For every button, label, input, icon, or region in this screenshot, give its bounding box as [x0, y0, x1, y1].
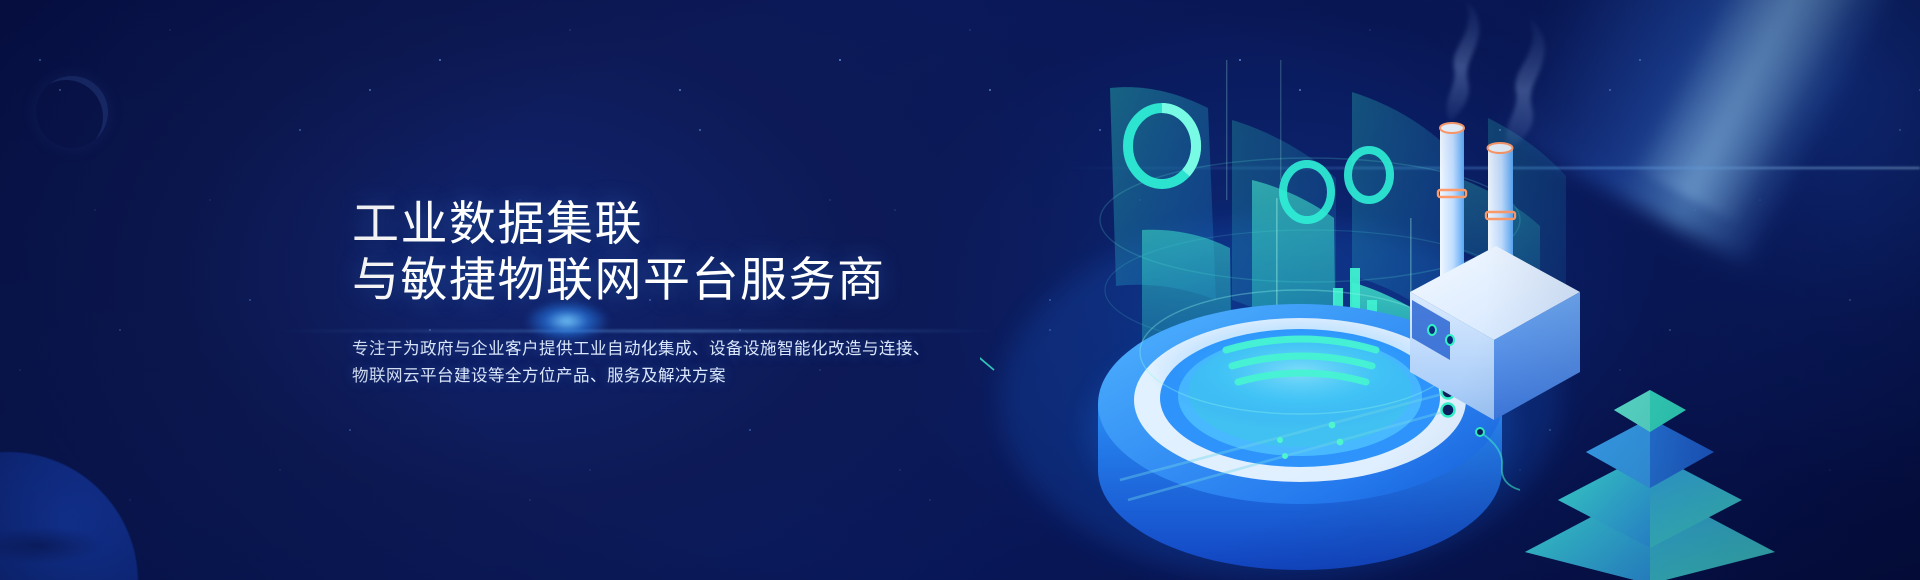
isometric-industrial-iot-illustration — [980, 0, 1920, 580]
smoke-plume — [1506, 18, 1544, 150]
smokestack-rim — [1488, 143, 1513, 153]
link-pulse — [1329, 422, 1336, 429]
smokestack — [1440, 128, 1464, 278]
data-stream-line — [1280, 60, 1281, 180]
data-connection-line — [980, 276, 994, 370]
smoke-plume — [1447, 0, 1479, 122]
hero-subtitle: 专注于为政府与企业客户提供工业自动化集成、设备设施智能化改造与连接、 物联网云平… — [352, 336, 912, 390]
smokestack-rim — [1440, 123, 1464, 133]
hero-subtitle-line1: 专注于为政府与企业客户提供工业自动化集成、设备设施智能化改造与连接、 — [352, 336, 912, 363]
factory-port — [1446, 335, 1454, 345]
hero-subtitle-line2: 物联网云平台建设等全方位产品、服务及解决方案 — [352, 363, 912, 390]
hero-copy: 工业数据集联 与敏捷物联网平台服务商 专注于为政府与企业客户提供工业自动化集成、… — [352, 196, 992, 390]
link-node — [1442, 404, 1455, 417]
data-stream-line — [1276, 198, 1278, 310]
link-pulse — [1282, 453, 1288, 459]
crescent-moon-icon — [36, 76, 108, 148]
page-title-line1: 工业数据集联 — [352, 196, 992, 252]
link-node — [1476, 428, 1484, 436]
pyramid-apex-left — [1614, 390, 1650, 432]
link-pulse — [1337, 439, 1344, 446]
factory-port — [1428, 325, 1436, 335]
link-pulse — [1277, 437, 1283, 443]
page-title-line2: 与敏捷物联网平台服务商 — [352, 252, 992, 308]
data-stream-line — [1226, 60, 1227, 200]
planet-icon — [0, 452, 138, 580]
hero-banner: 工业数据集联 与敏捷物联网平台服务商 专注于为政府与企业客户提供工业自动化集成、… — [0, 0, 1920, 580]
